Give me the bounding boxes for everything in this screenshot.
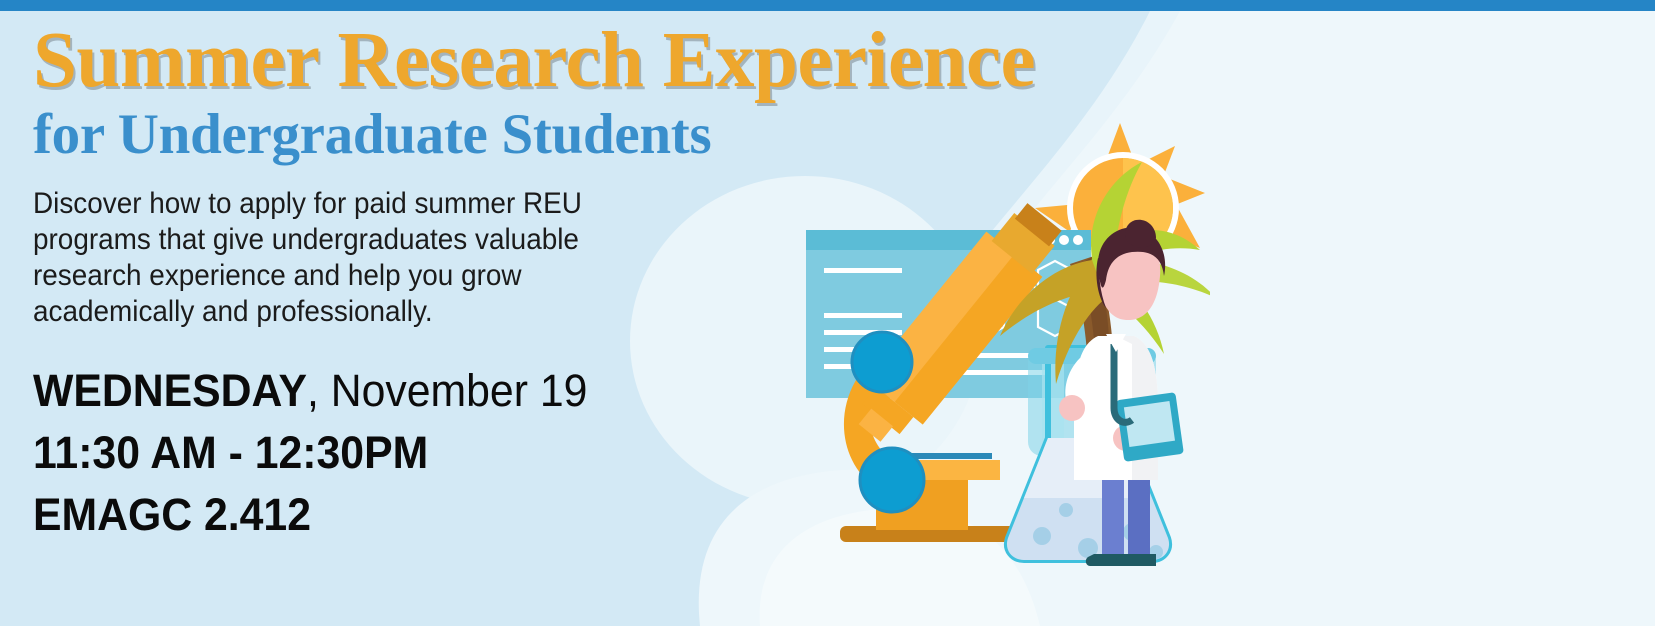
description-line: programs that give undergraduates valuab… (33, 222, 684, 258)
top-accent-bar (0, 0, 1655, 11)
text-column: Summer Research Experience for Undergrad… (33, 22, 1163, 546)
event-time: 11:30 AM - 12:30PM (33, 422, 1107, 484)
event-location: EMAGC 2.412 (33, 484, 1107, 546)
page-subtitle: for Undergraduate Students (33, 104, 1163, 166)
description-text: Discover how to apply for paid summer RE… (33, 186, 684, 330)
event-day: WEDNESDAY (33, 365, 307, 416)
description-line: academically and professionally. (33, 294, 684, 330)
description-line: Discover how to apply for paid summer RE… (33, 186, 684, 222)
event-details: WEDNESDAY, November 19 11:30 AM - 12:30P… (33, 360, 1163, 546)
event-date: WEDNESDAY, November 19 (33, 360, 1107, 422)
flyer-canvas: Summer Research Experience for Undergrad… (0, 0, 1655, 626)
event-month-day: , November 19 (307, 365, 587, 416)
page-title: Summer Research Experience (33, 22, 1163, 100)
description-line: research experience and help you grow (33, 258, 684, 294)
